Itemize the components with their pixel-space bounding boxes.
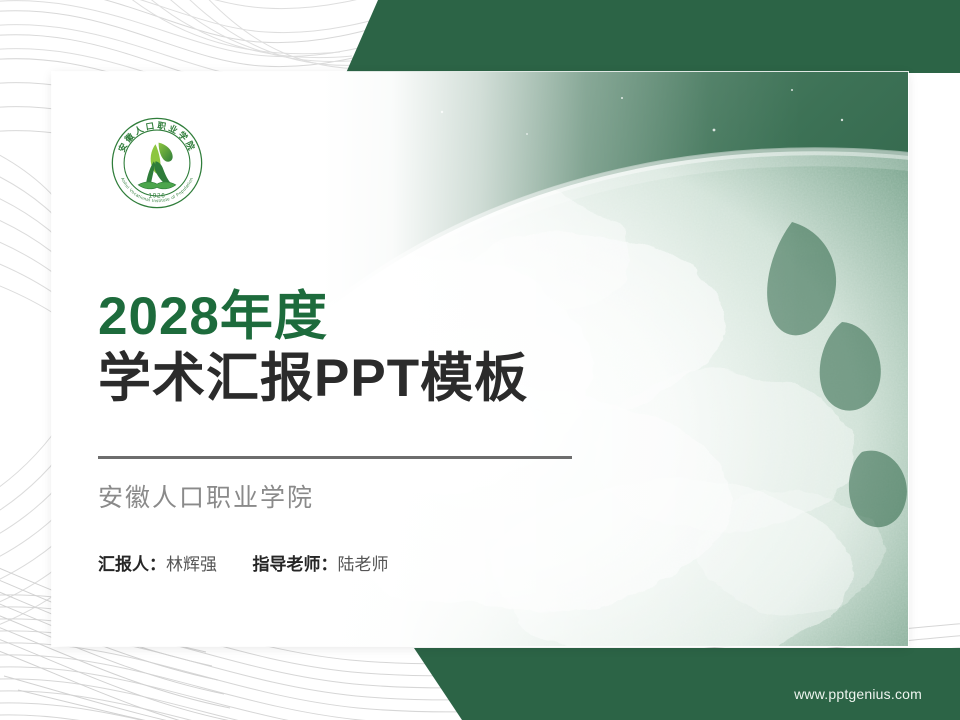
advisor-separator: ： xyxy=(320,555,337,574)
presenter-name: 林辉强 xyxy=(166,555,217,574)
advisor-label: 指导老师 xyxy=(252,555,320,574)
title-block: 2028年度 学术汇报PPT模板 xyxy=(98,288,658,410)
presenter-label: 汇报人 xyxy=(98,555,149,574)
university-logo: 安徽人口职业学院 Anhui Vocational Institute of P… xyxy=(110,116,204,210)
title-main: 学术汇报PPT模板 xyxy=(98,349,658,410)
svg-text:1926: 1926 xyxy=(148,192,165,199)
presentation-slide: 安徽人口职业学院 Anhui Vocational Institute of P… xyxy=(0,0,960,720)
title-year: 2028年度 xyxy=(98,288,658,345)
credits-line: 汇报人：林辉强 指导老师：陆老师 xyxy=(98,550,388,575)
footer-website-url[interactable]: www.pptgenius.com xyxy=(794,686,922,702)
title-divider xyxy=(98,456,572,459)
advisor-name: 陆老师 xyxy=(337,555,388,574)
bottom-right-green-wedge xyxy=(414,648,960,720)
school-name: 安徽人口职业学院 xyxy=(98,478,314,514)
presenter-separator: ： xyxy=(149,555,166,574)
top-right-green-band xyxy=(346,0,960,73)
slide-content-card: 安徽人口职业学院 Anhui Vocational Institute of P… xyxy=(52,72,908,646)
